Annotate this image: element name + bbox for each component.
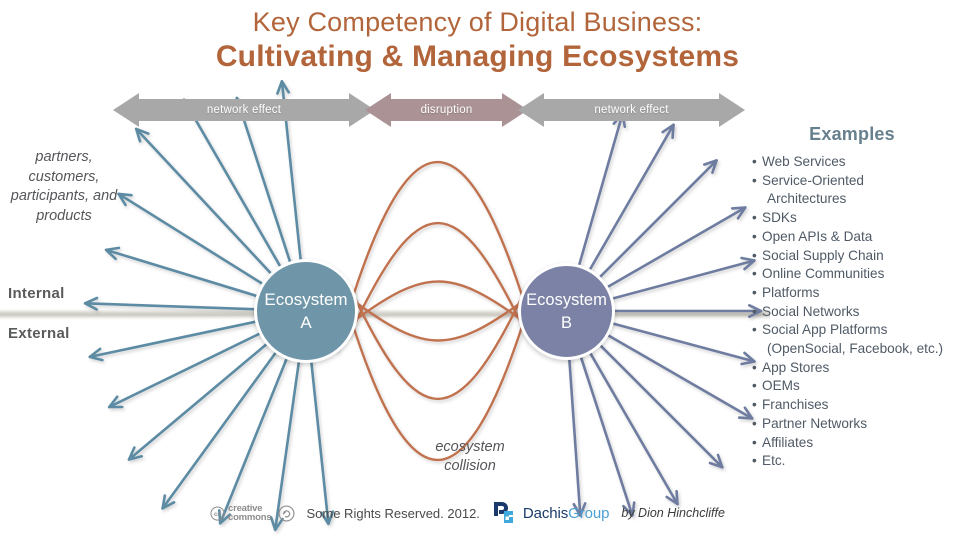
bullet-icon: • bbox=[752, 209, 757, 228]
collision-label-line-2: collision bbox=[400, 457, 540, 476]
dachis-word-dachis: Dachis bbox=[523, 505, 568, 522]
ecosystem-a-label-2: A bbox=[300, 311, 311, 334]
example-item-continuation: (OpenSocial, Facebook, etc.) bbox=[762, 340, 952, 359]
example-item: •Web Services bbox=[752, 153, 952, 172]
bullet-icon: • bbox=[752, 415, 757, 434]
bullet-icon: • bbox=[752, 265, 757, 284]
band-arrow-label: network effect bbox=[207, 104, 281, 116]
example-item-continuation: Architectures bbox=[762, 190, 952, 209]
bullet-icon: • bbox=[752, 228, 757, 247]
example-item: •Social App Platforms(OpenSocial, Facebo… bbox=[752, 321, 952, 358]
cc-circle-icon: cc bbox=[210, 506, 225, 521]
example-item-label: Affiliates bbox=[762, 435, 813, 450]
ecosystem-b-node[interactable]: Ecosystem B bbox=[518, 263, 615, 360]
title-line-2: Cultivating & Managing Ecosystems bbox=[0, 39, 955, 75]
bullet-icon: • bbox=[752, 396, 757, 415]
example-item: •Partner Networks bbox=[752, 415, 952, 434]
bullet-icon: • bbox=[752, 172, 757, 191]
label-internal: Internal bbox=[8, 285, 65, 302]
example-item-label: SDKs bbox=[762, 210, 797, 225]
example-item-label: Online Communities bbox=[762, 266, 884, 281]
rights-text: Some Rights Reserved. 2012. bbox=[306, 506, 479, 521]
ecosystem-b-arrow-9 bbox=[605, 208, 745, 289]
share-alike-icon[interactable] bbox=[278, 505, 295, 522]
title-line-1: Key Competency of Digital Business: bbox=[0, 6, 955, 38]
example-item-label: Partner Networks bbox=[762, 416, 867, 431]
ecosystem-b-arrow-8 bbox=[610, 258, 755, 299]
example-item-label: OEMs bbox=[762, 378, 800, 393]
example-item: •Franchises bbox=[752, 396, 952, 415]
dachis-word-group: Group bbox=[568, 505, 609, 522]
ecosystem-a-arrow-6 bbox=[106, 248, 259, 297]
example-item-label: Service-Oriented bbox=[762, 173, 864, 188]
cc-wordmark: creative commons bbox=[228, 504, 271, 523]
collision-label-line-1: ecosystem bbox=[400, 438, 540, 457]
arrow-band: network effectdisruptionnetwork effect bbox=[0, 93, 955, 127]
ecosystem-b-label-2: B bbox=[561, 312, 572, 335]
ecosystem-a-arrow-5 bbox=[119, 194, 265, 285]
band-arrow-3: network effect bbox=[518, 93, 745, 127]
bullet-icon: • bbox=[752, 359, 757, 378]
ecosystem-b-arrow-12 bbox=[578, 114, 624, 268]
collision-curve-1 bbox=[337, 162, 538, 350]
dachis-mark-icon bbox=[493, 501, 519, 525]
example-item: •Affiliates bbox=[752, 434, 952, 453]
label-external: External bbox=[8, 325, 70, 342]
ecosystem-a-arrow-4 bbox=[136, 129, 272, 275]
page-title: Key Competency of Digital Business: Cult… bbox=[0, 6, 955, 75]
band-arrow-label: network effect bbox=[594, 104, 668, 116]
ecosystem-b-label: Ecosystem bbox=[526, 289, 607, 312]
example-item-label: App Stores bbox=[762, 360, 829, 375]
examples-list: •Web Services•Service-OrientedArchitectu… bbox=[752, 153, 952, 471]
example-item: •Online Communities bbox=[752, 265, 952, 284]
bullet-icon: • bbox=[752, 247, 757, 266]
ecosystem-a-arrow-11 bbox=[163, 351, 278, 509]
examples-title: Examples bbox=[752, 124, 952, 145]
band-arrow-1: network effect bbox=[113, 93, 375, 127]
example-item-label: Platforms bbox=[762, 285, 819, 300]
ecosystem-a-arrow-10 bbox=[129, 343, 269, 460]
bullet-icon: • bbox=[752, 377, 757, 396]
dachis-group-logo[interactable]: DachisGroup bbox=[493, 501, 609, 525]
ecosystem-b-arrow-6 bbox=[610, 323, 755, 364]
internal-external-divider bbox=[0, 309, 770, 320]
footer: cc creative commons Some Rights Reserved… bbox=[210, 498, 725, 528]
ecosystem-a-arrow-8 bbox=[90, 321, 258, 360]
bullet-icon: • bbox=[752, 153, 757, 172]
ecosystem-b-arrow-11 bbox=[589, 125, 674, 272]
example-item-label: Etc. bbox=[762, 453, 785, 468]
example-item-label: Social App Platforms bbox=[762, 322, 887, 337]
example-item: •Open APIs & Data bbox=[752, 228, 952, 247]
bullet-icon: • bbox=[752, 303, 757, 322]
bullet-icon: • bbox=[752, 284, 757, 303]
collision-curve-5 bbox=[349, 285, 527, 399]
ecosystem-a-arrow-7 bbox=[85, 298, 257, 309]
author-credit: by Dion Hinchcliffe bbox=[621, 506, 725, 520]
left-caption: partners, customers, participants, and p… bbox=[5, 148, 123, 226]
svg-text:cc: cc bbox=[214, 511, 221, 518]
ecosystem-collision-label: ecosystem collision bbox=[400, 438, 540, 476]
ecosystem-b-arrow-1 bbox=[569, 356, 585, 516]
ecosystem-a-arrow-9 bbox=[109, 333, 262, 408]
bullet-icon: • bbox=[752, 452, 757, 471]
example-item: •App Stores bbox=[752, 359, 952, 378]
example-item: •OEMs bbox=[752, 377, 952, 396]
example-item-label: Social Networks bbox=[762, 304, 859, 319]
ecosystem-a-label: Ecosystem bbox=[264, 288, 347, 311]
example-item-label: Open APIs & Data bbox=[762, 229, 872, 244]
ecosystem-a-node[interactable]: Ecosystem A bbox=[254, 259, 358, 363]
example-item: •Social Supply Chain bbox=[752, 247, 952, 266]
band-arrow-2: disruption bbox=[365, 93, 528, 127]
example-item: •SDKs bbox=[752, 209, 952, 228]
band-arrow-label: disruption bbox=[421, 104, 473, 116]
ecosystem-b-arrow-5 bbox=[605, 334, 752, 419]
ecosystem-b-arrow-3 bbox=[589, 350, 678, 504]
ecosystem-b-arrow-10 bbox=[598, 160, 717, 279]
bullet-icon: • bbox=[752, 434, 757, 453]
ecosystem-b-arrow-2 bbox=[580, 354, 634, 516]
example-item-label: Franchises bbox=[762, 397, 828, 412]
example-item-label: Social Supply Chain bbox=[762, 248, 884, 263]
example-item: •Service-OrientedArchitectures bbox=[752, 172, 952, 209]
creative-commons-icon[interactable]: cc creative commons bbox=[210, 504, 271, 523]
collision-curve-6 bbox=[337, 272, 538, 460]
examples-panel: Examples •Web Services•Service-OrientedA… bbox=[752, 124, 952, 471]
example-item: •Etc. bbox=[752, 452, 952, 471]
dachis-wordmark: DachisGroup bbox=[523, 505, 609, 522]
cc-word-commons: commons bbox=[228, 513, 271, 523]
collision-curve-4 bbox=[355, 302, 521, 340]
example-item: •Platforms bbox=[752, 284, 952, 303]
ecosystem-b-arrow-4 bbox=[598, 343, 723, 468]
example-item-label: Web Services bbox=[762, 154, 846, 169]
bullet-icon: • bbox=[752, 321, 757, 340]
example-item: •Social Networks bbox=[752, 303, 952, 322]
